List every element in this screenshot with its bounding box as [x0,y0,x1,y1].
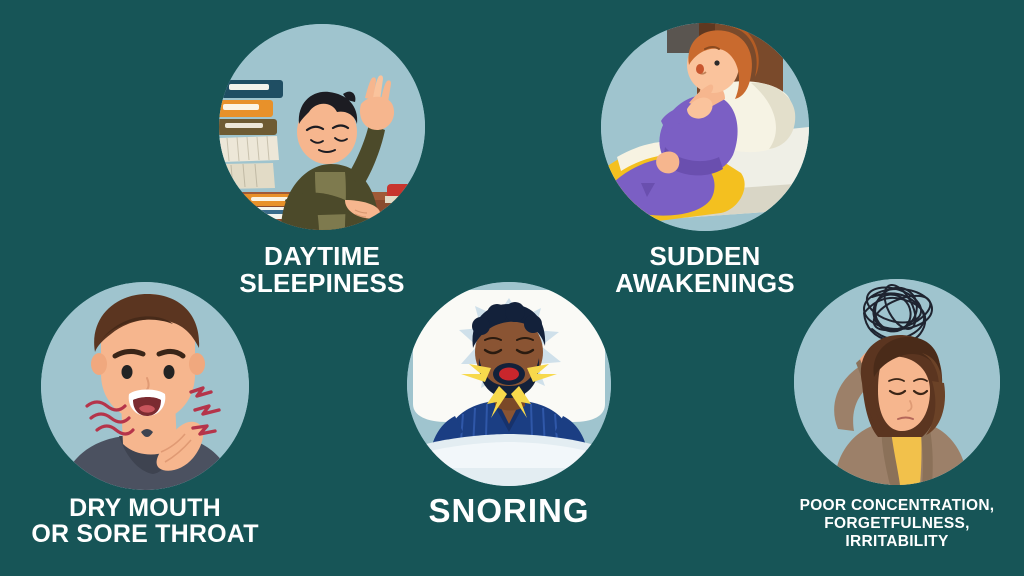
infographic-canvas: DAYTIME SLEEPINESS [0,0,1024,576]
caption-dry-mouth-or-sore-throat: DRY MOUTH OR SORE THROAT [10,496,280,547]
man-snoring-icon [407,282,611,486]
caption-sudden-awakenings: SUDDEN AWAKENINGS [575,243,835,296]
illustration-man-snoring [407,282,611,486]
man-sore-throat-icon [41,282,249,490]
illustration-man-sore-throat [41,282,249,490]
caption-daytime-sleepiness: DAYTIME SLEEPINESS [197,243,447,296]
tired-man-at-desk-icon [219,24,425,230]
illustration-woman-scribble-head [794,279,1000,485]
woman-scribble-head-icon [794,279,1000,485]
woman-waking-in-bed-icon [601,23,809,231]
caption-snoring: SNORING [384,494,634,528]
caption-poor-concentration: POOR CONCENTRATION, FORGETFULNESS, IRRIT… [772,497,1022,550]
illustration-woman-waking-in-bed [601,23,809,231]
illustration-tired-man-at-desk [219,24,425,230]
